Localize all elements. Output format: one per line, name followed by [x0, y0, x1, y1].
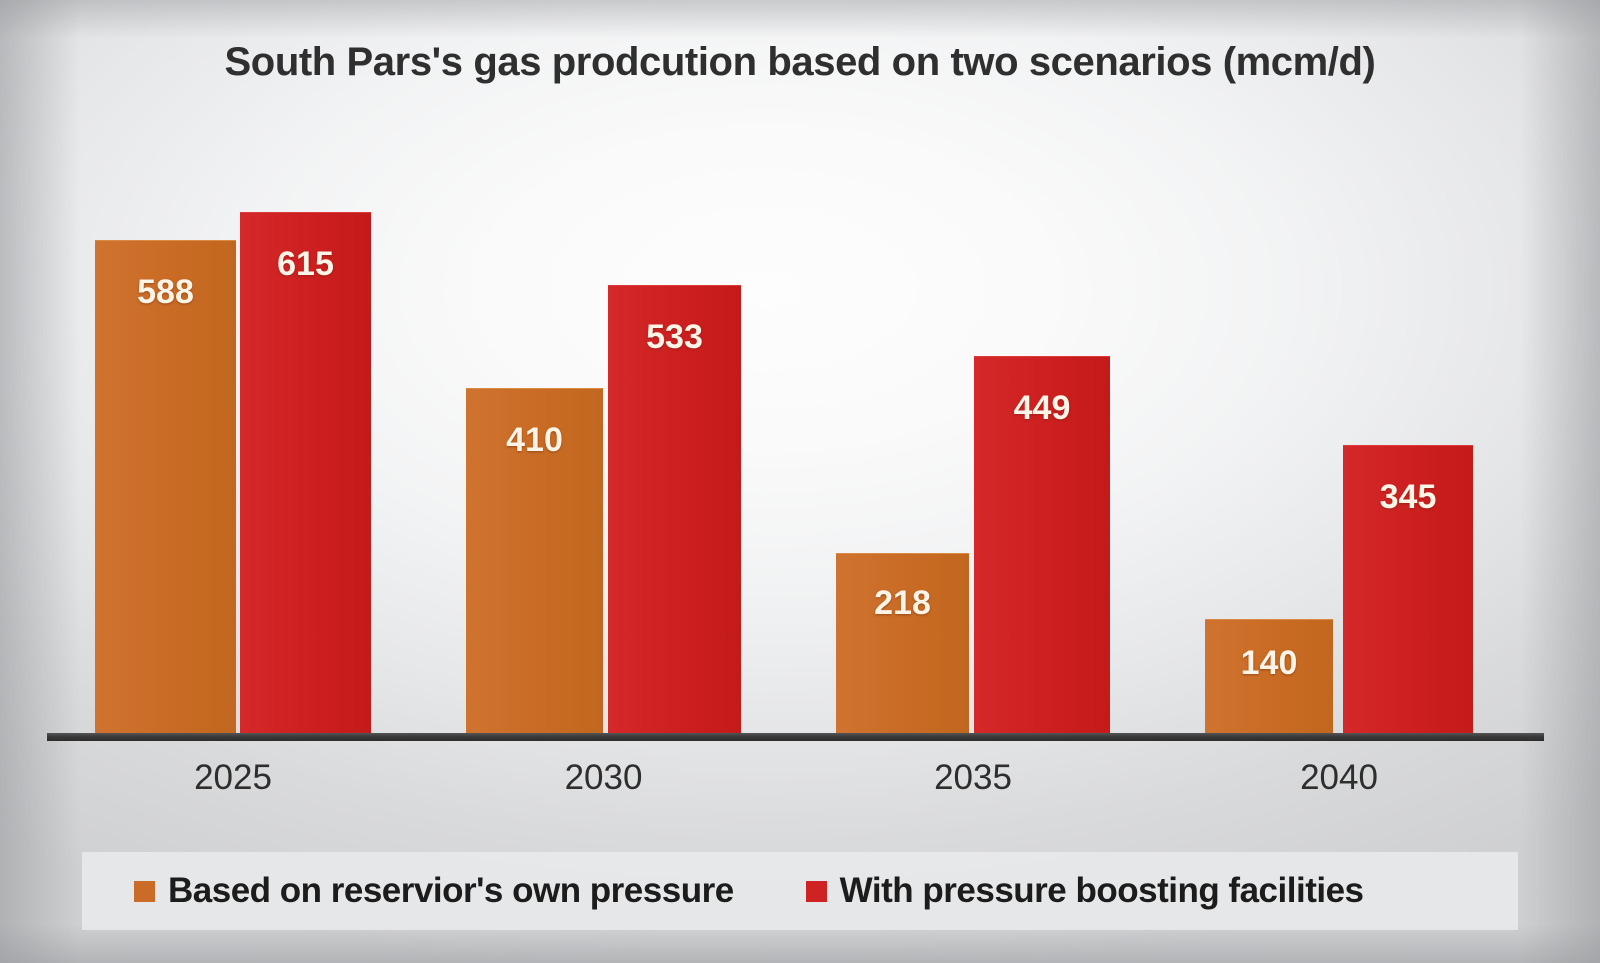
x-axis-line — [47, 733, 1544, 741]
x-axis-tick-2030: 2030 — [466, 758, 741, 798]
bar-value-label: 588 — [95, 273, 236, 312]
chart-container: South Pars's gas prodcution based on two… — [0, 0, 1600, 963]
bar-2040-reservoir-pressure[interactable]: 140 — [1205, 619, 1333, 738]
bar-2030-pressure-boosting[interactable]: 533 — [608, 285, 741, 738]
legend-entry-reservoir-pressure[interactable]: Based on reservior's own pressure — [134, 871, 734, 911]
legend-label: Based on reservior's own pressure — [168, 871, 734, 911]
bar-2035-reservoir-pressure[interactable]: 218 — [836, 553, 969, 738]
x-axis-tick-2040: 2040 — [1205, 758, 1473, 798]
bar-2025-reservoir-pressure[interactable]: 588 — [95, 240, 236, 738]
legend-swatch-orange-icon — [134, 881, 155, 902]
chart-legend: Based on reservior's own pressure With p… — [82, 852, 1518, 930]
bar-2040-pressure-boosting[interactable]: 345 — [1343, 445, 1473, 738]
legend-entry-pressure-boosting[interactable]: With pressure boosting facilities — [806, 871, 1364, 911]
bar-value-label: 533 — [608, 318, 741, 357]
bar-value-label: 410 — [466, 421, 603, 460]
bar-value-label: 615 — [240, 245, 371, 284]
x-axis-tick-2035: 2035 — [836, 758, 1110, 798]
legend-swatch-red-icon — [806, 881, 827, 902]
bar-2035-pressure-boosting[interactable]: 449 — [974, 356, 1110, 738]
bar-value-label: 140 — [1205, 644, 1333, 683]
bar-value-label: 218 — [836, 584, 969, 623]
bar-2030-reservoir-pressure[interactable]: 410 — [466, 388, 603, 738]
plot-area: 588 615 410 533 218 449 140 345 2025 203… — [0, 0, 1600, 963]
bar-value-label: 345 — [1343, 478, 1473, 517]
x-axis-tick-2025: 2025 — [95, 758, 371, 798]
chart-title: South Pars's gas prodcution based on two… — [0, 40, 1600, 85]
bar-2025-pressure-boosting[interactable]: 615 — [240, 212, 371, 738]
legend-label: With pressure boosting facilities — [840, 871, 1364, 911]
bar-value-label: 449 — [974, 389, 1110, 428]
